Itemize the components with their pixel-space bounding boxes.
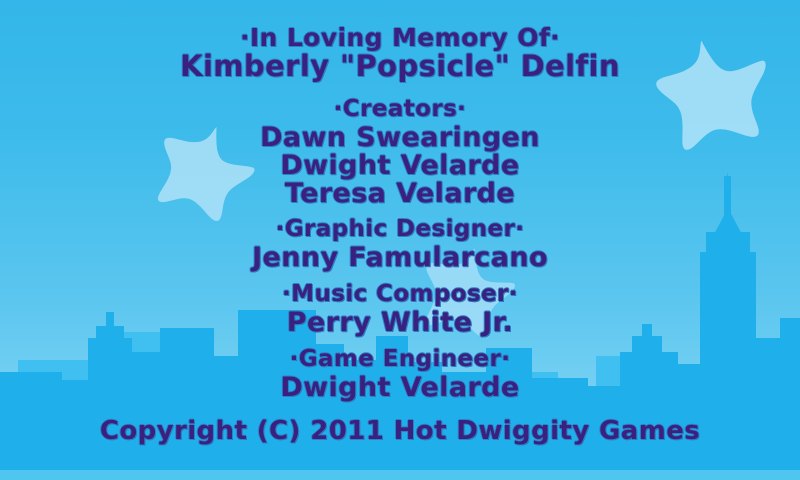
credit-block-music-composer: ·Music Composer· Perry White Jr. [0,283,800,337]
credit-block-creators: ·Creators· Dawn Swearingen Dwight Velard… [0,98,800,208]
credit-block-copyright: Copyright (C) 2011 Hot Dwiggity Games [0,418,800,444]
game-engineer-role: ·Game Engineer· [0,348,800,371]
memorial-role: ·In Loving Memory Of· [0,25,800,50]
creators-name-2: Dwight Velarde [0,152,800,179]
creators-name-1: Dawn Swearingen [0,124,800,151]
credit-block-game-engineer: ·Game Engineer· Dwight Velarde [0,348,800,402]
credit-block-memorial: ·In Loving Memory Of· Kimberly "Popsicle… [0,25,800,81]
music-composer-name: Perry White Jr. [0,309,800,336]
music-composer-role: ·Music Composer· [0,283,800,306]
creators-role: ·Creators· [0,98,800,121]
game-engineer-name: Dwight Velarde [0,374,800,401]
graphic-designer-name: Jenny Famularcano [0,244,800,271]
copyright-notice: Copyright (C) 2011 Hot Dwiggity Games [0,418,800,444]
credits-text-layer: ·In Loving Memory Of· Kimberly "Popsicle… [0,0,800,480]
credits-screen: ·In Loving Memory Of· Kimberly "Popsicle… [0,0,800,480]
creators-name-3: Teresa Velarde [0,180,800,207]
graphic-designer-role: ·Graphic Designer· [0,218,800,241]
credit-block-graphic-designer: ·Graphic Designer· Jenny Famularcano [0,218,800,272]
memorial-name: Kimberly "Popsicle" Delfin [0,52,800,81]
